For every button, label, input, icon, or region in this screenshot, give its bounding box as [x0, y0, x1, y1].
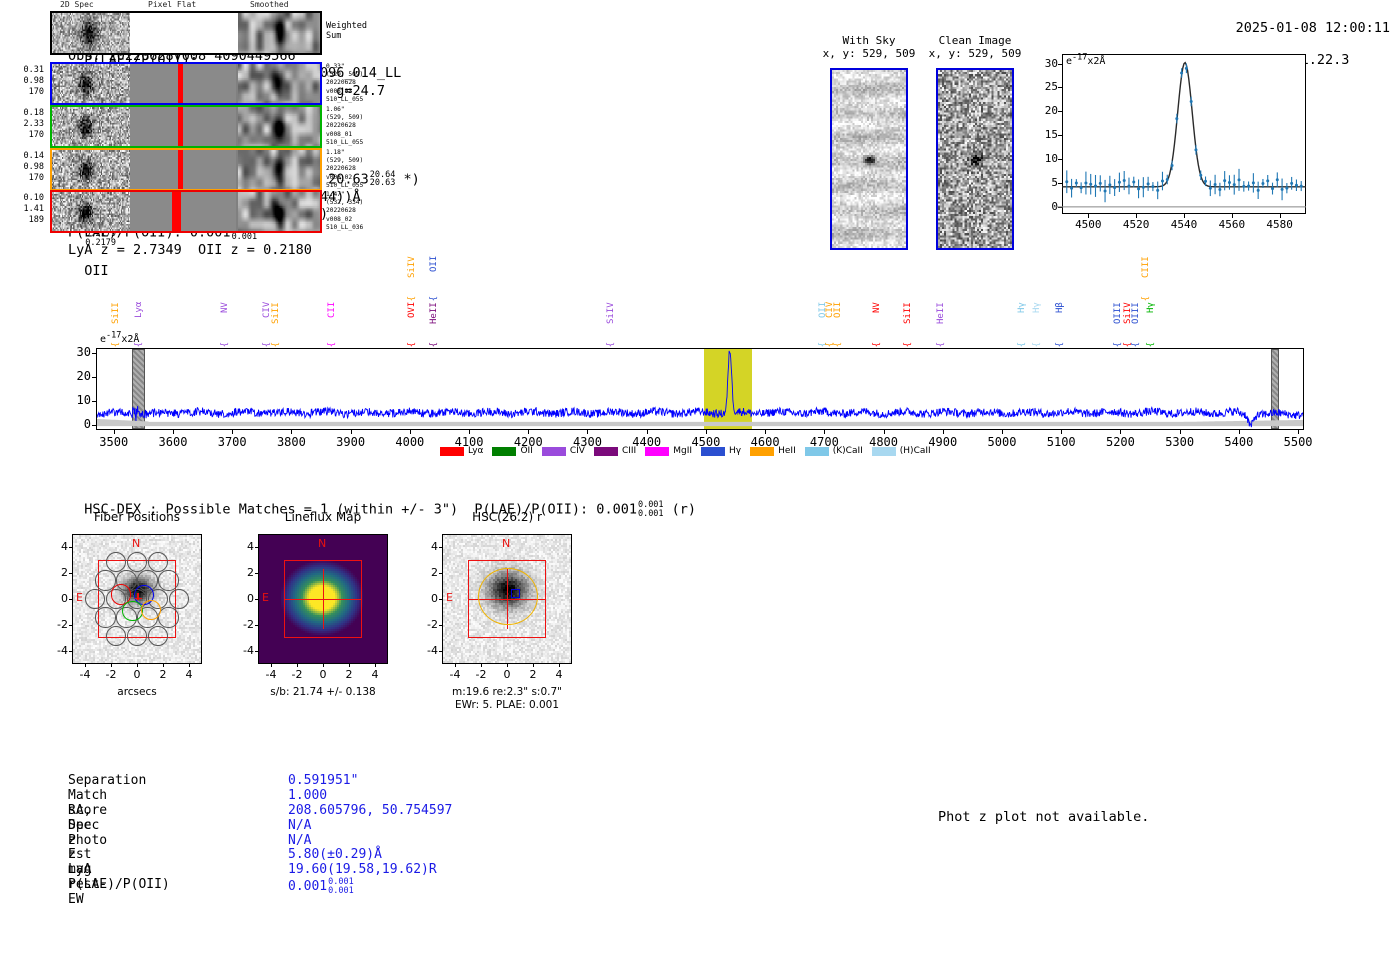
legend-label-Hγ: Hγ	[729, 446, 741, 456]
fiber-left-labels-2: 0.140.98170	[0, 151, 44, 184]
fiber-2dspec-1	[52, 107, 130, 146]
fiber-flat-redbar-3	[172, 192, 181, 231]
legend-swatch-Hγ	[701, 447, 725, 456]
compass-east-1: E	[262, 591, 269, 604]
compass-east-0: E	[76, 591, 83, 604]
fiber-circle-15	[158, 570, 178, 590]
match-value-7: 0.0010.0010.001	[288, 878, 354, 895]
match-value-2: 208.605796, 50.754597	[288, 804, 452, 819]
weighted-sum-label: WeightedSum	[326, 21, 367, 41]
fiber-circle-2	[148, 626, 168, 646]
match-value-5: 5.80(±0.29)Å	[288, 848, 382, 863]
legend-item-OII: OII	[492, 446, 532, 456]
fiber-right-labels-0: 0.33"(529, 509)20220628v008_03510_LL_055	[326, 63, 363, 104]
sky-clean-title-1: Clean Imagex, y: 529, 509	[918, 34, 1032, 60]
fiber-smoothed-0	[238, 64, 320, 103]
fiber-circle-highlight-2	[122, 601, 142, 621]
gmag-frac: 20.6420.63	[370, 171, 396, 188]
cutout-2-ytickmark	[439, 625, 442, 626]
cutout-2-xtickmark	[481, 664, 482, 667]
cutout-1-xtick-4: 4	[359, 668, 391, 681]
legend-swatch-MgII	[645, 447, 669, 456]
match-key-7: P(LAE)/P(OII)	[68, 878, 170, 893]
full-spectrum-plot: SiII{Lyα{NV{CIV{SiII{CII{OVI{SiIV{HeII{O…	[0, 270, 1400, 470]
cutout-0-ytick-0: 0	[46, 592, 68, 605]
hsc-ellipse	[478, 568, 538, 625]
fiber-circle-7	[85, 589, 105, 609]
cutout-title-0: Fiber Positions	[32, 510, 242, 524]
cutout-2-ytick-2: 2	[416, 566, 438, 579]
spec2d-panel-group: 2D SpecPixel FlatSmoothedWeightedSum0.31…	[0, 0, 390, 226]
cutout-1-ytickmark	[255, 573, 258, 574]
legend-swatch-Lyα	[440, 447, 464, 456]
legend-swatch-(H)CaII	[872, 447, 896, 456]
fiber-pixelflat-3	[130, 192, 236, 231]
cutout-0-ytickmark	[69, 651, 72, 652]
cutout-1-xtickmark	[297, 664, 298, 667]
cutout-1-ytick--4: -4	[232, 644, 254, 657]
hscdex-filter: (r)	[664, 502, 697, 518]
cutout-0-ytick-2: 2	[46, 566, 68, 579]
cutout-1-ytick-4: 4	[232, 540, 254, 553]
spec2d-column-title-1: Pixel Flat	[148, 0, 196, 9]
sky-clean-image-1	[938, 70, 1012, 248]
fiber-right-labels-2: 1.18"(529, 509)20220628v008_02510_LL_055	[326, 149, 363, 190]
fiber-flat-redbar-2	[178, 150, 183, 189]
cutout-2-ytick-4: 4	[416, 540, 438, 553]
match-value-0: 0.591951"	[288, 774, 358, 789]
cutout-0-ytick--4: -4	[46, 644, 68, 657]
cutout-0-xtickmark	[189, 664, 190, 667]
info-redshifts: LyA z = 2.7349 OII z = 0.2180	[68, 242, 420, 260]
legend-item-(K)CaII: (K)CaII	[805, 446, 863, 456]
cutout-1-ytickmark	[255, 651, 258, 652]
cutout-0-xtickmark	[137, 664, 138, 667]
cutout-1-xtickmark	[323, 664, 324, 667]
cutout-subtitle-text: x, y: 529, 509	[812, 47, 926, 60]
legend-swatch-(K)CaII	[805, 447, 829, 456]
cutout-1-ytick-0: 0	[232, 592, 254, 605]
legend-item-MgII: MgII	[645, 446, 692, 456]
fiber-pixelflat-0	[130, 64, 236, 103]
cutout-1-xtickmark	[271, 664, 272, 667]
match-key-0: Separation	[68, 774, 146, 789]
fiber-2dspec-2	[52, 150, 130, 189]
cutout-2-ytick--2: -2	[416, 618, 438, 631]
spectrum-trace	[0, 270, 1400, 470]
cutout-2-xtickmark	[533, 664, 534, 667]
cutout-1-ytickmark	[255, 599, 258, 600]
legend-label-MgII: MgII	[673, 446, 692, 456]
legend-label-(H)CaII: (H)CaII	[900, 446, 931, 456]
fiber-right-labels-1: 1.06"(529, 509)20220628v008_01510_LL_055	[326, 106, 363, 147]
fiber-pixelflat-1	[130, 107, 236, 146]
legend-item-CIV: CIV	[542, 446, 585, 456]
fiber-2dspec-3	[52, 192, 130, 231]
legend-swatch-HeII	[750, 447, 774, 456]
fiber-right-labels-3: 1.47"(532, 334)20220628v008_02510_LL_036	[326, 191, 363, 232]
cutout-title-1: Lineflux Map	[218, 510, 428, 524]
legend-item-CIII: CIII	[594, 446, 636, 456]
match-key-6: mag	[68, 863, 91, 878]
line-fit-plot: e-17x2Å05101520253045004520454045604580	[1032, 48, 1312, 248]
cutout-2-ytick--4: -4	[416, 644, 438, 657]
fiber-smoothed-1	[238, 107, 320, 146]
fiber-smoothed-2	[238, 150, 320, 189]
cutout-caption-2: m:19.6 re:2.3" s:0.7"	[397, 686, 617, 699]
fiber-flat-redbar-1	[178, 107, 183, 146]
cutout-1-xtickmark	[349, 664, 350, 667]
cutout-0-ytickmark	[69, 625, 72, 626]
compass-east-2: E	[446, 591, 453, 604]
cutout-1-ytickmark	[255, 625, 258, 626]
cutout-0-ytick-4: 4	[46, 540, 68, 553]
cutout-2-ytickmark	[439, 547, 442, 548]
fiber-smoothed-3	[238, 192, 320, 231]
line-fit-curve	[1032, 48, 1312, 248]
cutout-0-xtick-4: 4	[173, 668, 205, 681]
cutout-2-xtickmark	[559, 664, 560, 667]
cutout-title-2: HSC(26.2) r	[402, 510, 612, 524]
sky-clean-image-0	[832, 70, 906, 248]
fiber-left-labels-3: 0.101.41189	[0, 193, 44, 226]
hsc-detection-box	[511, 589, 520, 597]
cutout-2-xtick-4: 4	[543, 668, 575, 681]
cutout-2-xtickmark	[507, 664, 508, 667]
cutout-0-ytick--2: -2	[46, 618, 68, 631]
compass-north-0: N	[132, 537, 140, 550]
legend-swatch-CIII	[594, 447, 618, 456]
weighted-sum-2dspec	[52, 13, 130, 53]
cutout-0-xtickmark	[163, 664, 164, 667]
sky-clean-cutouts: With Skyx, y: 529, 509Clean Imagex, y: 5…	[818, 34, 1018, 260]
cutout-2-ytickmark	[439, 573, 442, 574]
fiber-left-labels-1: 0.182.33170	[0, 108, 44, 141]
legend-label-Lyα: Lyα	[468, 446, 483, 456]
fiber-circle-3	[95, 607, 115, 627]
spectrum-legend: LyαOIICIVCIIIMgIIHγHeII(K)CaII(H)CaII	[440, 446, 931, 456]
hscdex-frac: 0.0010.001	[638, 501, 664, 518]
legend-label-OII: OII	[520, 446, 532, 456]
fiber-flat-redbar-0	[178, 64, 183, 103]
cutout-title-text: With Sky	[812, 34, 926, 47]
legend-label-CIV: CIV	[570, 446, 585, 456]
cutout-subtitle-text: x, y: 529, 509	[918, 47, 1032, 60]
legend-label-CIII: CIII	[622, 446, 636, 456]
match-value-3: N/A	[288, 819, 311, 834]
cutout-2-ytickmark	[439, 651, 442, 652]
legend-item-(H)CaII: (H)CaII	[872, 446, 931, 456]
fiber-pixelflat-2	[130, 150, 236, 189]
legend-swatch-OII	[492, 447, 516, 456]
match-value-1: 1.000	[288, 789, 327, 804]
legend-item-HeII: HeII	[750, 446, 796, 456]
match-value-frac-7: 0.0010.001	[328, 878, 354, 895]
match-value-6: 19.60(19.58,19.62)R	[288, 863, 437, 878]
cutout-1-ytickmark	[255, 547, 258, 548]
fiber-center-marker-v	[137, 593, 138, 600]
legend-label-(K)CaII: (K)CaII	[833, 446, 863, 456]
cutout-xlabel-0: arcsecs	[32, 686, 242, 699]
cutout-0-xtickmark	[85, 664, 86, 667]
cutout-0-ytickmark	[69, 547, 72, 548]
photz-message: Phot z plot not available.	[938, 809, 1149, 825]
weighted-sum-smoothed	[238, 13, 320, 53]
fiber-circle-6	[158, 607, 178, 627]
cutout-2-ytickmark	[439, 599, 442, 600]
cutout-0-ytickmark	[69, 573, 72, 574]
legend-item-Hγ: Hγ	[701, 446, 741, 456]
crosshair-v-1	[323, 569, 324, 629]
spec2d-column-title-2: Smoothed	[250, 0, 289, 9]
cutout-0-ytickmark	[69, 599, 72, 600]
timestamp: 2025-01-08 12:00:11	[1236, 20, 1390, 36]
cutout-2-xtickmark	[455, 664, 456, 667]
cutout-1-xtickmark	[375, 664, 376, 667]
cutout-2-ytick-0: 0	[416, 592, 438, 605]
cutout-caption2-2: EWr: 5. PLAE: 0.001	[397, 699, 617, 712]
cutout-title-text: Clean Image	[918, 34, 1032, 47]
sky-clean-title-0: With Skyx, y: 529, 509	[812, 34, 926, 60]
legend-swatch-CIV	[542, 447, 566, 456]
fiber-circle-1	[127, 626, 147, 646]
cutout-0-xtickmark	[111, 664, 112, 667]
compass-north-1: N	[318, 537, 326, 550]
cutout-trio: Fiber Positions-4-4-2-2002244NEarcsecsLi…	[50, 510, 620, 730]
cutout-1-ytick--2: -2	[232, 618, 254, 631]
fiber-circle-0	[106, 626, 126, 646]
legend-item-Lyα: Lyα	[440, 446, 483, 456]
legend-label-HeII: HeII	[778, 446, 796, 456]
cutout-1-ytick-2: 2	[232, 566, 254, 579]
spec2d-column-title-0: 2D Spec	[60, 0, 94, 9]
compass-north-2: N	[502, 537, 510, 550]
fiber-left-labels-0: 0.310.98170	[0, 65, 44, 98]
fiber-2dspec-0	[52, 64, 130, 103]
